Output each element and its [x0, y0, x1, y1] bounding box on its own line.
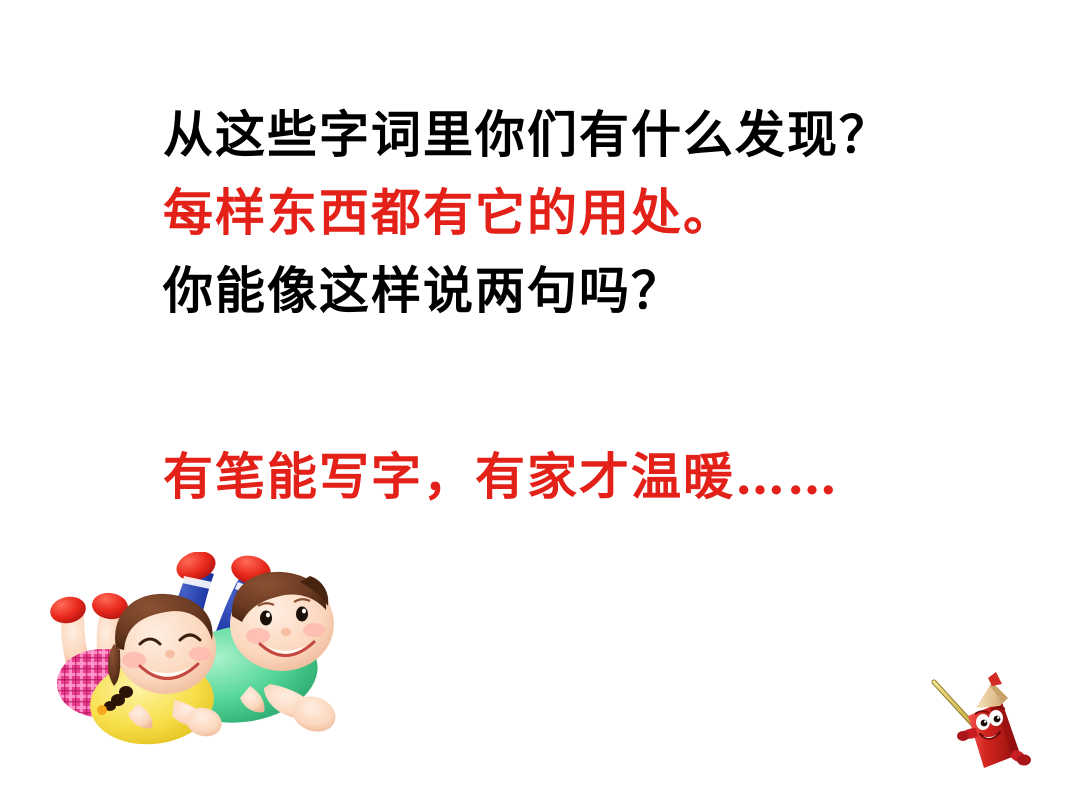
- pencil-right-hand: [1017, 755, 1031, 766]
- girl-figure: [48, 591, 225, 751]
- boy-right-eye: [296, 607, 308, 622]
- text-line-answer-1: 每样东西都有它的用处。: [163, 174, 1043, 252]
- boy-left-eye: [260, 611, 272, 626]
- text-line-answer-2: 有笔能写字，有家才温暖……: [163, 438, 1043, 516]
- pencil-mascot-illustration: [928, 668, 1040, 776]
- text-line-question-1: 从这些字词里你们有什么发现？: [163, 96, 1043, 174]
- slide-canvas: 从这些字词里你们有什么发现？ 每样东西都有它的用处。 你能像这样说两句吗？ 有笔…: [0, 0, 1080, 810]
- slide-text-block: 从这些字词里你们有什么发现？ 每样东西都有它的用处。 你能像这样说两句吗？ 有笔…: [163, 96, 1043, 516]
- pencil-left-hand: [957, 731, 969, 741]
- text-line-question-2: 你能像这样说两句吗？: [163, 252, 1043, 330]
- pencil-tip: [988, 672, 1002, 686]
- two-children-illustration: [14, 552, 384, 767]
